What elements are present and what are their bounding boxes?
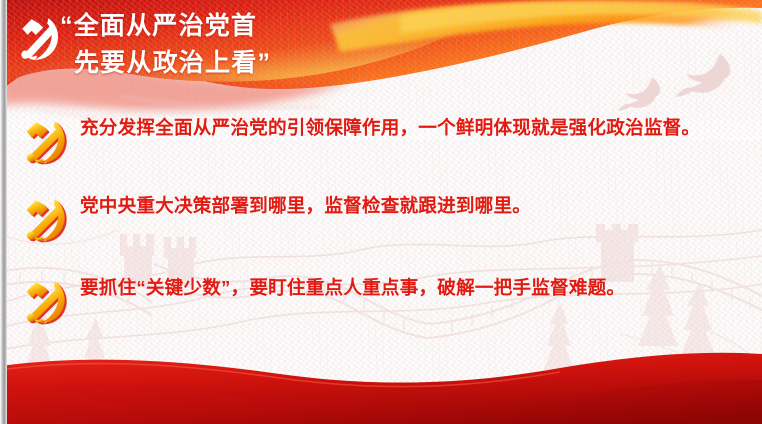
hammer-and-sickle-icon [14, 12, 66, 64]
bullet-text: 充分发挥全面从严治党的引领保障作用，一个鲜明体现就是强化政治监督。 [74, 112, 762, 144]
hammer-and-sickle-icon [18, 276, 74, 328]
hammer-and-sickle-icon [18, 116, 74, 168]
list-item: 党中央重大决策部署到哪里，监督检查就跟进到哪里。 [0, 190, 762, 246]
poster-title: “全面从严治党首 先要从政治上看” [60, 8, 271, 82]
poster-root: “全面从严治党首 先要从政治上看” [0, 0, 762, 424]
left-edge-strip [0, 0, 7, 424]
bullet-list: 充分发挥全面从严治党的引领保障作用，一个鲜明体现就是强化政治监督。 [0, 112, 762, 342]
bullet-text: 要抓住“关键少数”，要盯住重点人重点事，破解一把手监督难题。 [74, 272, 762, 304]
poster-header: “全面从严治党首 先要从政治上看” [0, 0, 762, 110]
bottom-wave [0, 334, 762, 424]
bullet-text: 党中央重大决策部署到哪里，监督检查就跟进到哪里。 [74, 190, 762, 222]
list-item: 充分发挥全面从严治党的引领保障作用，一个鲜明体现就是强化政治监督。 [0, 112, 762, 168]
title-line-1: “全面从严治党首 [60, 12, 257, 40]
title-line-2: 先要从政治上看” [60, 45, 271, 82]
list-item: 要抓住“关键少数”，要盯住重点人重点事，破解一把手监督难题。 [0, 272, 762, 328]
hammer-and-sickle-icon [18, 194, 74, 246]
